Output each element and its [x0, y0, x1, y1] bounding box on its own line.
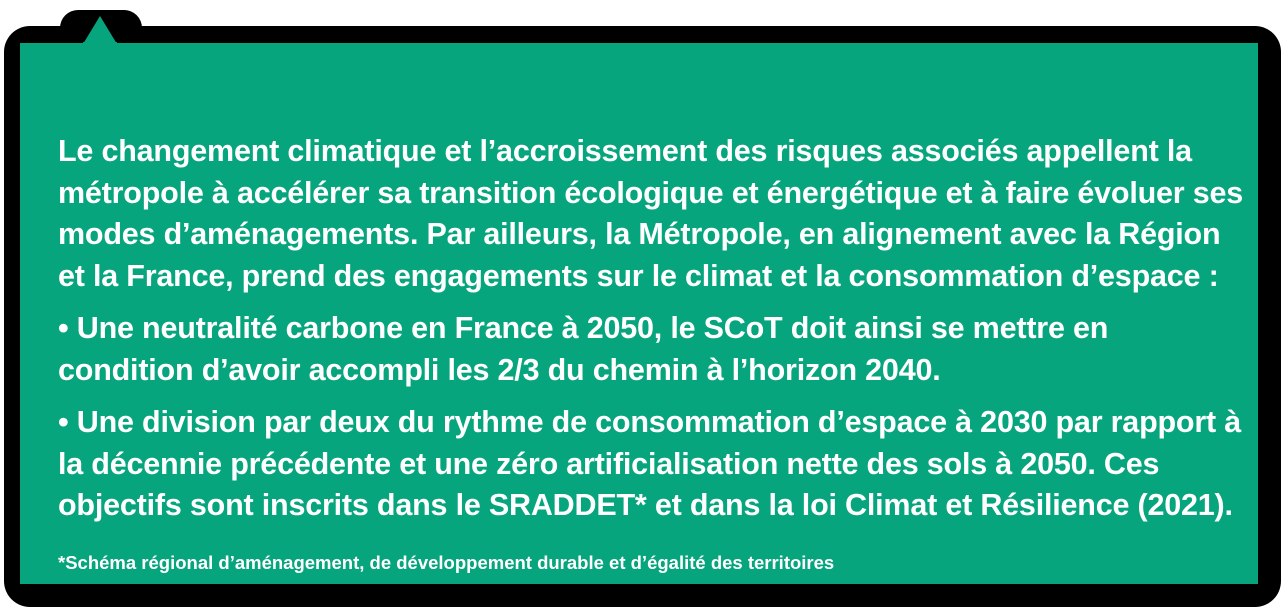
callout-panel: Le changement climatique et l’accroissem…	[20, 43, 1258, 584]
callout-bullet-item-2: • Une division par deux du rythme de con…	[58, 402, 1248, 527]
callout-root: Le changement climatique et l’accroissem…	[0, 0, 1287, 612]
callout-content: Le changement climatique et l’accroissem…	[58, 131, 1248, 576]
callout-footnote: *Schéma régional d’aménagement, de dével…	[58, 550, 1248, 576]
callout-bullet-item-1: • Une neutralité carbone en France à 205…	[58, 308, 1248, 391]
callout-intro-paragraph: Le changement climatique et l’accroissem…	[58, 131, 1248, 297]
callout-tail-pointer-icon	[83, 16, 117, 44]
